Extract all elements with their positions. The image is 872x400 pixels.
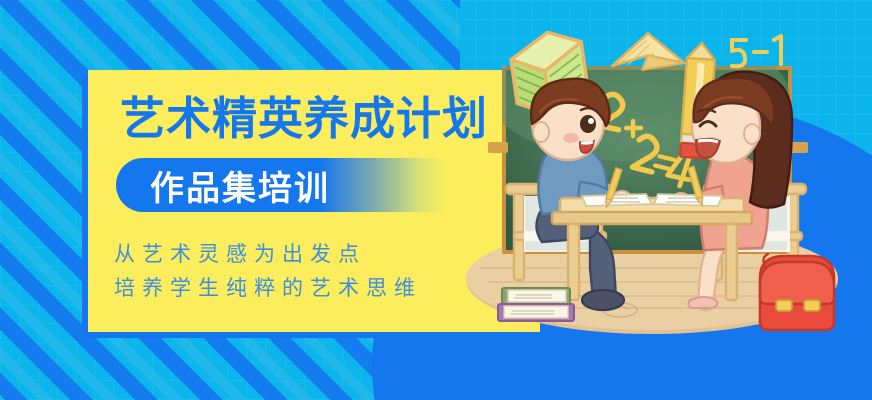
chalk-note-5-1 — [732, 36, 781, 66]
badge-label: 作品集培训 — [150, 161, 330, 210]
boy-cheek — [563, 133, 579, 143]
girl-ear — [744, 124, 760, 144]
page-title: 艺术精英养成计划 — [120, 96, 488, 141]
classroom-illustration — [440, 0, 872, 400]
chalkboard-peg-left — [488, 142, 508, 153]
paper-right — [654, 194, 722, 206]
boy-eye — [580, 115, 596, 133]
book-stack — [498, 288, 574, 321]
backpack-buckle-left — [776, 300, 792, 311]
subtitle-line-2: 培养学生纯粹的艺术思维 — [114, 272, 422, 302]
subtitle-line-1: 从艺术灵感为出发点 — [114, 238, 366, 268]
backpack — [760, 254, 834, 330]
promo-banner: 艺术精英养成计划 作品集培训 从艺术灵感为出发点 培养学生纯粹的艺术思维 — [0, 0, 872, 400]
backpack-buckle-right — [804, 300, 820, 311]
paper-left — [582, 194, 652, 206]
paper-airplane — [610, 31, 684, 72]
badge-course-type: 作品集培训 — [116, 158, 446, 212]
boy-shoe — [582, 290, 624, 310]
girl-shoe — [688, 297, 717, 308]
boy-ear — [533, 122, 549, 142]
